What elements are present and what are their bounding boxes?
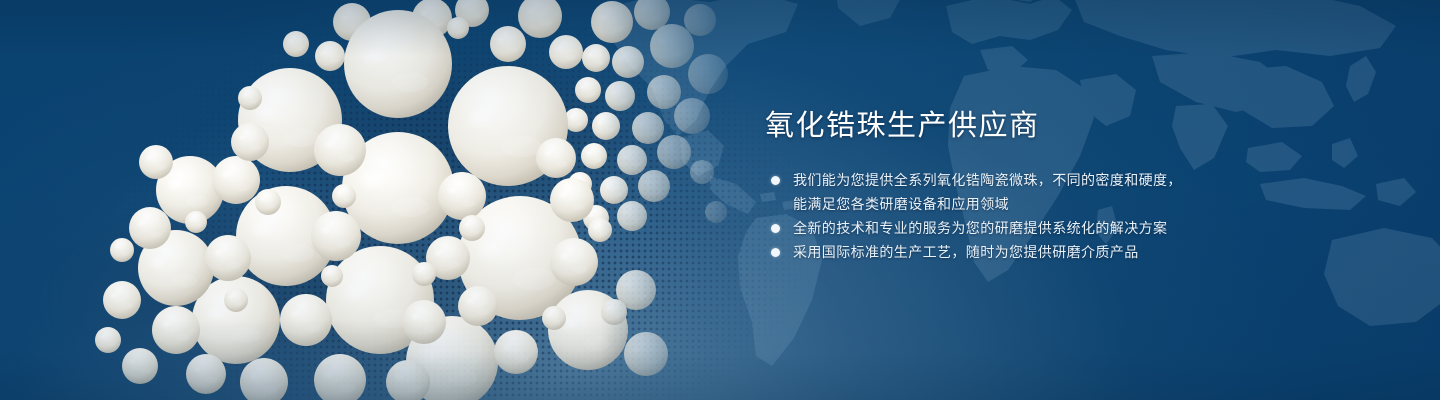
bullet-item-1-text: 我们能为您提供全系列氧化锆陶瓷微珠，不同的密度和硬度， 能满足您各类研磨设备和应… [793,168,1365,216]
bullet-item-1-line-1: 我们能为您提供全系列氧化锆陶瓷微珠，不同的密度和硬度， [793,172,1182,188]
bullet-item-1-line-2: 能满足您各类研磨设备和应用领域 [793,192,1365,216]
bullet-dot-icon [771,224,780,233]
bullet-dot-icon [771,248,780,257]
banner-copy-block: 氧化锆珠生产供应商 我们能为您提供全系列氧化锆陶瓷微珠，不同的密度和硬度， 能满… [765,108,1365,264]
banner-bullet-list: 我们能为您提供全系列氧化锆陶瓷微珠，不同的密度和硬度， 能满足您各类研磨设备和应… [765,168,1365,264]
bullet-item-3-text: 采用国际标准的生产工艺，随时为您提供研磨介质产品 [793,240,1365,264]
bullet-item-2-text: 全新的技术和专业的服务为您的研磨提供系统化的解决方案 [793,216,1365,240]
hero-banner: 氧化锆珠生产供应商 我们能为您提供全系列氧化锆陶瓷微珠，不同的密度和硬度， 能满… [0,0,1440,400]
bullet-dot-icon [771,176,780,185]
bullet-item-1: 我们能为您提供全系列氧化锆陶瓷微珠，不同的密度和硬度， 能满足您各类研磨设备和应… [765,168,1365,216]
bullet-item-2: 全新的技术和专业的服务为您的研磨提供系统化的解决方案 [765,216,1365,240]
bullet-item-3: 采用国际标准的生产工艺，随时为您提供研磨介质产品 [765,240,1365,264]
banner-headline: 氧化锆珠生产供应商 [765,108,1365,144]
